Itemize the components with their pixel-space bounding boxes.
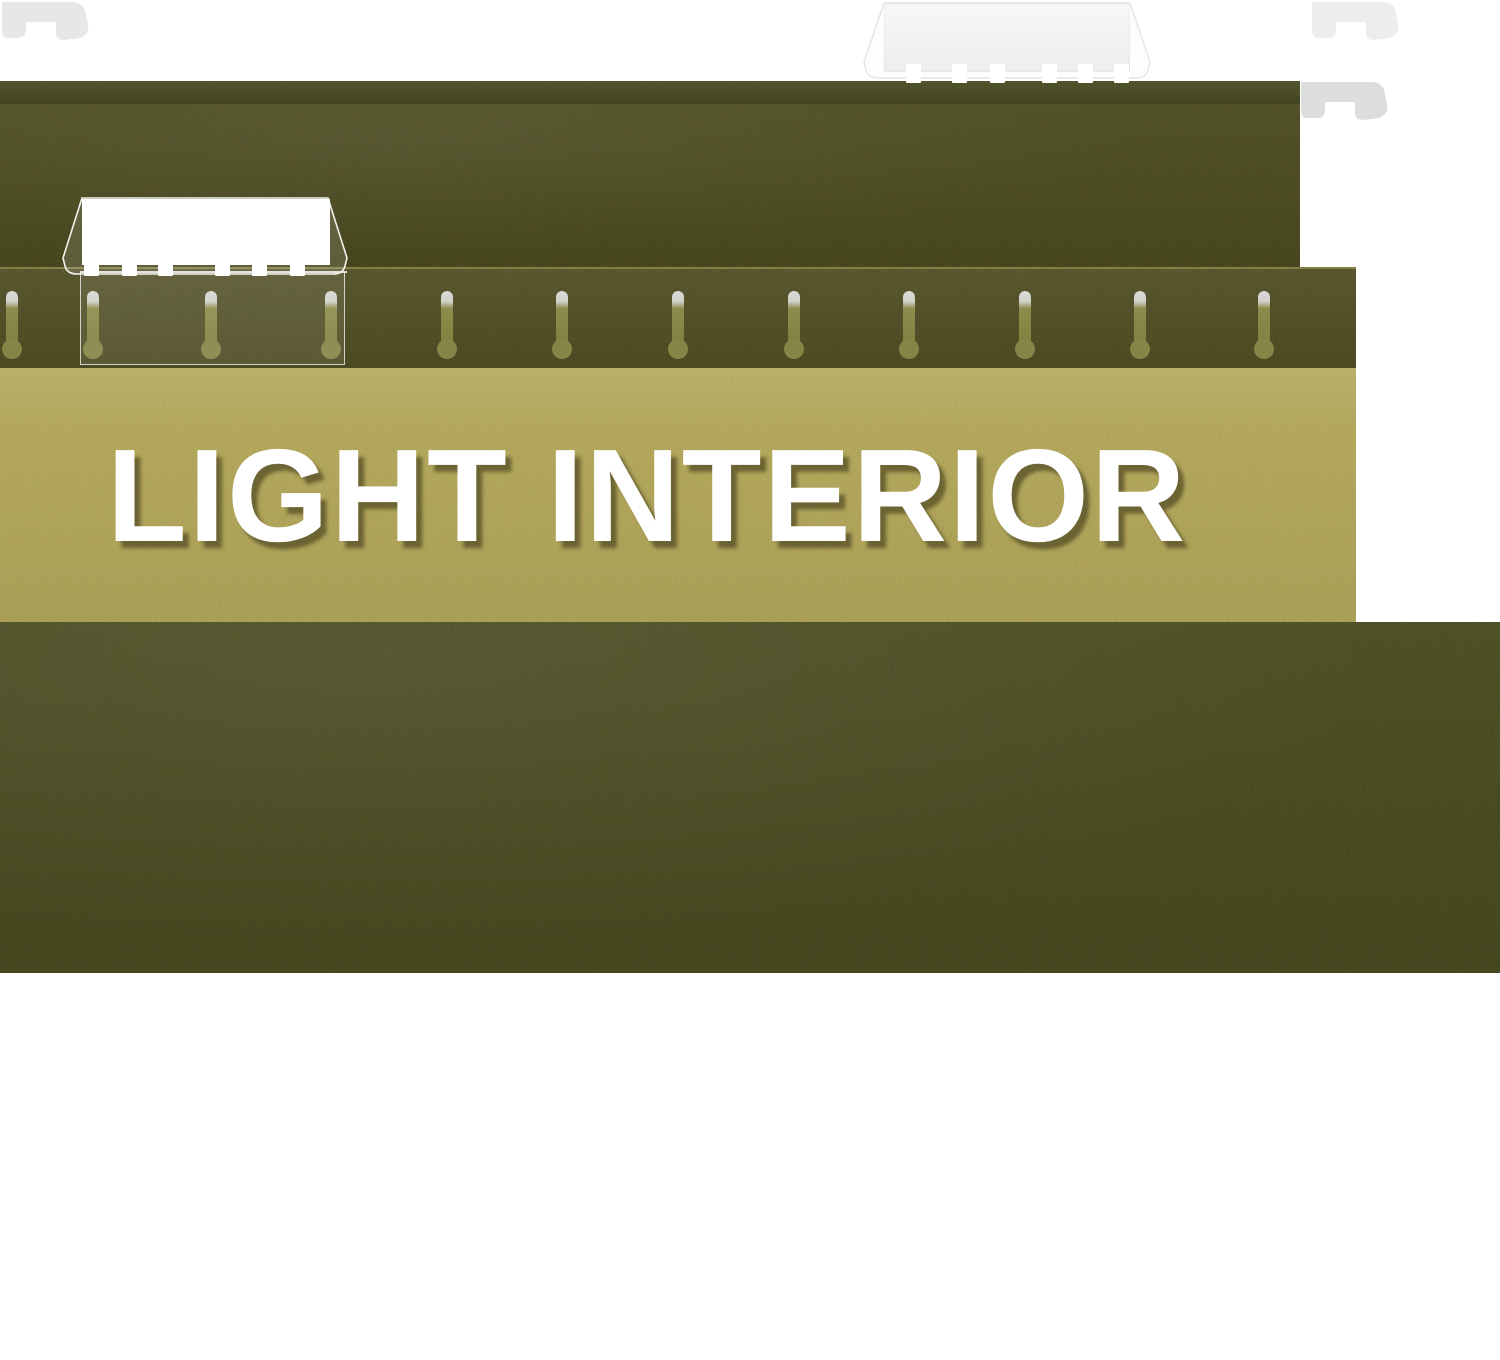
paper-texture — [0, 622, 1500, 973]
tab-slot — [788, 291, 800, 359]
hanging-hook-icon — [0, 0, 92, 42]
tab-slot — [441, 291, 453, 359]
tab-slot — [903, 291, 915, 359]
light-interior-label: LIGHT INTERIOR — [0, 368, 1342, 622]
tab-slot — [556, 291, 568, 359]
product-photo-area: LIGHT INTERIOR — [0, 0, 1500, 973]
hanging-hook-3 — [0, 0, 92, 47]
plastic-tab-left — [60, 196, 350, 278]
tab-notch — [158, 257, 173, 276]
tab-backing-panel — [80, 272, 345, 365]
tab-slot — [1134, 291, 1146, 359]
tab-notch — [1114, 64, 1129, 83]
hanging-hook-2 — [1310, 0, 1402, 47]
tab-slot — [1258, 291, 1270, 359]
tab-slot — [672, 291, 684, 359]
plastic-tab-top — [862, 2, 1152, 84]
tab-notch — [122, 257, 137, 276]
tab-paper-insert — [884, 4, 1130, 72]
tab-slot — [1019, 291, 1031, 359]
tab-notch — [906, 64, 921, 83]
folder-front-body — [0, 622, 1500, 973]
light-interior-panel: LIGHT INTERIOR — [0, 368, 1356, 622]
hanging-hook-icon — [1299, 80, 1391, 122]
tab-notch — [84, 257, 99, 276]
tab-notch — [1078, 64, 1093, 83]
tab-notch — [990, 64, 1005, 83]
hanging-hook-1 — [1299, 80, 1391, 122]
hanging-hook-icon — [1310, 0, 1402, 42]
product-marketing-image: LIGHT INTERIOR — [0, 0, 1500, 1360]
tab-notch — [952, 64, 967, 83]
tab-notch — [1042, 64, 1057, 83]
tab-notch — [215, 257, 230, 276]
tab-notch — [290, 257, 305, 276]
tab-notch — [252, 257, 267, 276]
tab-paper-insert — [82, 199, 330, 265]
